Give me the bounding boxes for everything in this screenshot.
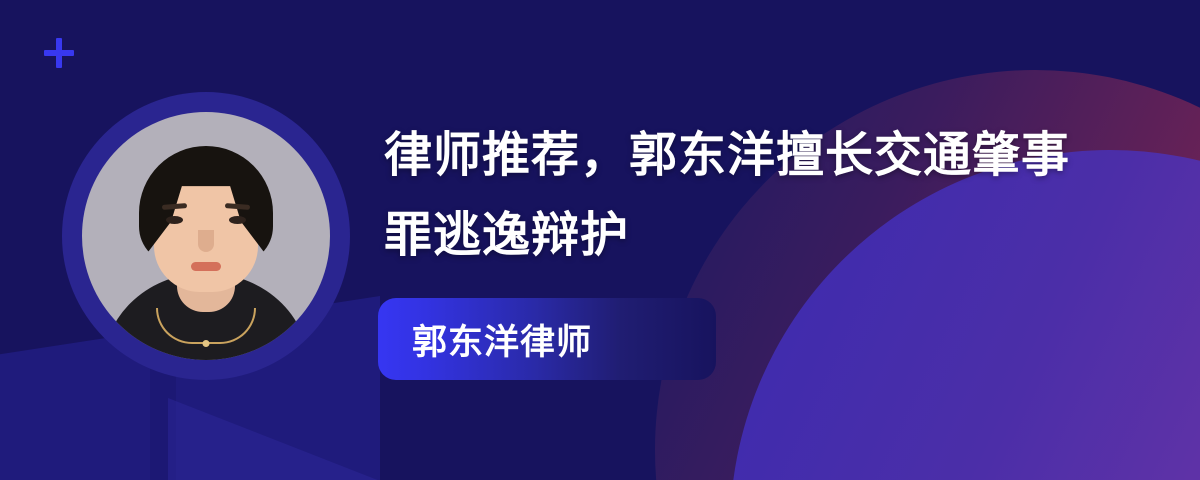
portrait-nose [198,230,214,252]
page-title: 律师推荐，郭东洋擅长交通肇事罪逃逸辩护 [384,116,1084,276]
lawyer-name-button[interactable]: 郭东洋律师 [378,298,716,380]
avatar-photo [82,112,330,360]
plus-icon [44,38,74,68]
portrait-eye-right [229,216,246,224]
portrait-eye-left [166,216,183,224]
text-content: 律师推荐，郭东洋擅长交通肇事罪逃逸辩护 [384,116,1124,276]
portrait-mouth [191,262,221,271]
avatar [62,92,350,380]
portrait-pendant [203,340,210,347]
lawyer-promo-banner: 律师推荐，郭东洋擅长交通肇事罪逃逸辩护 郭东洋律师 [0,0,1200,480]
